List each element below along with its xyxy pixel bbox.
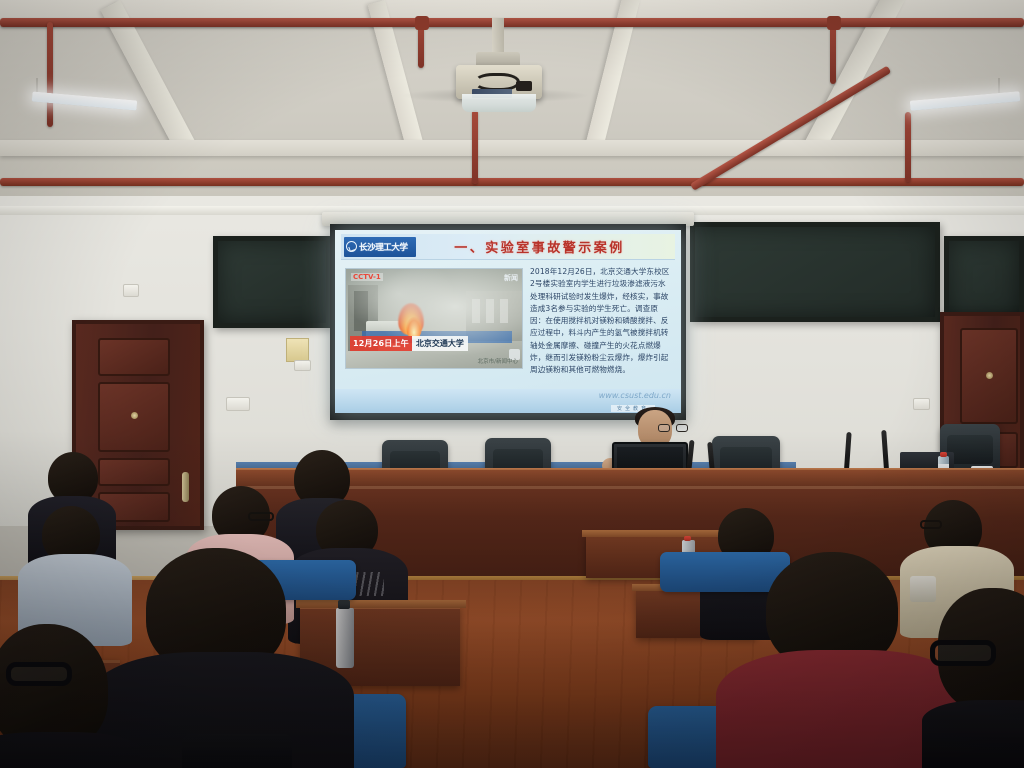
glasses-icon bbox=[658, 424, 688, 432]
glasses-icon bbox=[920, 520, 942, 529]
presentation-slide: 长沙理工大学 一、实验室事故警示案例 CCTV-1 新闻 bbox=[335, 230, 681, 413]
slide-body-text: 2018年12月26日，北京交通大学东校区2号楼实验室内学生进行垃圾渗滤液污水处… bbox=[530, 264, 673, 387]
slide-title: 一、实验室事故警示案例 bbox=[416, 237, 675, 256]
blackboard-far-right bbox=[944, 236, 1024, 322]
fluorescent-light bbox=[910, 91, 1020, 111]
backpack bbox=[182, 734, 292, 768]
logo-emblem-icon bbox=[346, 241, 357, 252]
projector-connector bbox=[516, 81, 532, 91]
lecture-hall-photo: 长沙理工大学 一、实验室事故警示案例 CCTV-1 新闻 bbox=[0, 0, 1024, 768]
news-date-label: 12月26日上午 bbox=[350, 336, 412, 351]
news-program-badge: 新闻 bbox=[504, 273, 518, 283]
news-location-label: 北京交通大学 bbox=[412, 336, 468, 351]
glasses-icon bbox=[930, 640, 996, 666]
blackboard-right bbox=[690, 222, 940, 322]
door-peephole bbox=[986, 372, 993, 379]
door-panel bbox=[98, 338, 170, 376]
logo-text: 长沙理工大学 bbox=[359, 241, 408, 253]
pipe-riser bbox=[830, 22, 836, 84]
wall-sensor[interactable] bbox=[123, 284, 139, 297]
ceiling-projector bbox=[452, 52, 544, 114]
glasses-icon bbox=[248, 512, 274, 521]
projector-pole bbox=[492, 18, 504, 56]
news-photo: CCTV-1 新闻 12月26日上午 北京交通大学 北京市/新闻中心 bbox=[345, 268, 523, 369]
university-logo: 长沙理工大学 bbox=[344, 237, 416, 257]
student-torso bbox=[922, 700, 1024, 768]
bottle-cap bbox=[940, 452, 947, 457]
ceiling-beam bbox=[0, 140, 1024, 156]
news-credit-label: 北京市/新闻中心 bbox=[478, 357, 518, 365]
glasses-icon bbox=[6, 662, 72, 686]
slide-body: CCTV-1 新闻 12月26日上午 北京交通大学 北京市/新闻中心 2018年… bbox=[345, 264, 673, 387]
power-outlet[interactable] bbox=[294, 360, 311, 371]
pipe-riser bbox=[47, 22, 53, 127]
door-peephole bbox=[131, 412, 138, 419]
pipe-riser bbox=[472, 110, 478, 184]
smoke-plume bbox=[346, 269, 522, 368]
pipe-riser bbox=[905, 112, 911, 182]
ceiling bbox=[0, 0, 1024, 218]
pipe-joint bbox=[827, 16, 841, 30]
sprinkler-pipe bbox=[0, 178, 1024, 186]
student-torso bbox=[0, 732, 140, 768]
slide-footer-url: www.csust.edu.cn bbox=[599, 391, 671, 400]
news-channel-badge: CCTV-1 bbox=[351, 273, 383, 281]
projector-lens-housing bbox=[462, 94, 536, 112]
pipe-joint bbox=[415, 16, 429, 30]
student-right-foreground bbox=[938, 588, 1024, 768]
news-caption-bar: 12月26日上午 北京交通大学 bbox=[350, 336, 468, 351]
slide-header: 长沙理工大学 一、实验室事故警示案例 bbox=[341, 234, 675, 260]
sprinkler-pipe bbox=[0, 18, 1024, 27]
projection-screen: 长沙理工大学 一、实验室事故警示案例 CCTV-1 新闻 bbox=[330, 224, 686, 420]
bottle-cap bbox=[684, 536, 691, 541]
light-switch[interactable] bbox=[226, 397, 250, 411]
blackboard-left bbox=[213, 236, 331, 328]
light-switch[interactable] bbox=[913, 398, 930, 410]
wall-notice bbox=[286, 338, 309, 362]
student-glasses-left-foreground bbox=[0, 624, 140, 768]
